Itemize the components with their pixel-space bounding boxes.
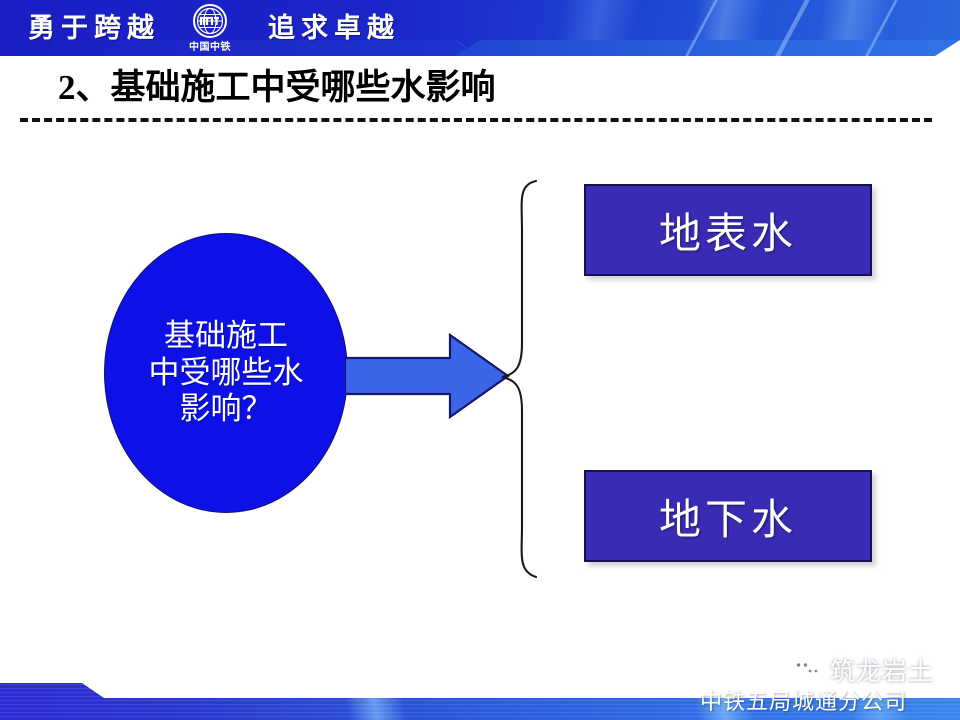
globe-emblem-icon [192, 3, 228, 39]
footer-company-name: 中铁五局城通分公司 [700, 684, 907, 716]
source-node-label: 基础施工 中受哪些水 影响？ [149, 318, 304, 428]
watermark: 筑龙岩土 [790, 652, 934, 688]
china-railway-logo: 中国中铁 [176, 3, 244, 53]
page-title: 2、基础施工中受哪些水影响 [58, 59, 496, 110]
slide-canvas: 勇于跨越 中国中铁 追求卓越 2、基础施工中受哪些水影响 基础施工 中受哪些水 … [0, 0, 960, 720]
slogan-right: 追求卓越 [268, 6, 400, 45]
source-node-ellipse: 基础施工 中受哪些水 影响？ [104, 233, 348, 513]
result-box-label: 地表水 [659, 200, 797, 261]
result-box-label: 地下水 [659, 486, 797, 547]
header-banner: 勇于跨越 中国中铁 追求卓越 [0, 0, 960, 56]
right-arrow-icon [345, 330, 510, 422]
watermark-text: 筑龙岩土 [830, 652, 934, 688]
result-box-ground-water: 地下水 [584, 470, 872, 562]
right-curly-brace-icon [498, 175, 558, 585]
banner-lower-strip-right [455, 40, 960, 56]
china-railway-logo-text: 中国中铁 [176, 38, 244, 53]
result-box-surface-water: 地表水 [584, 184, 872, 276]
title-divider [20, 118, 932, 122]
slogan-left: 勇于跨越 [28, 6, 160, 45]
wechat-icon [790, 656, 824, 684]
